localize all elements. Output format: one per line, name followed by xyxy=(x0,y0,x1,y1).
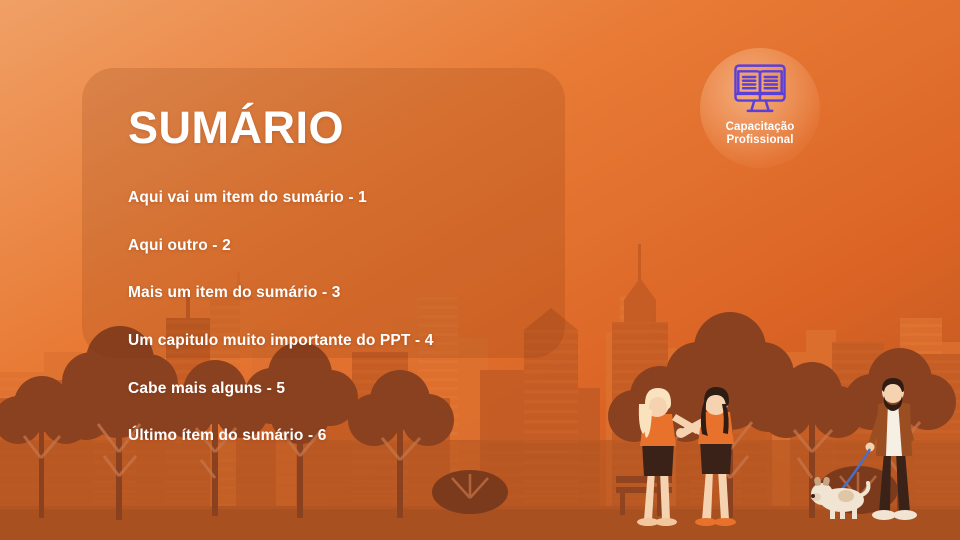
page-title: SUMÁRIO xyxy=(128,104,648,151)
logo-text-line2: Profissional xyxy=(726,134,793,146)
table-of-contents-list: Aqui vai um item do sumário - 1 Aqui out… xyxy=(128,189,648,446)
toc-item-5[interactable]: Cabe mais alguns - 5 xyxy=(128,380,648,399)
logo-badge: Capacitação Profissional xyxy=(700,48,820,168)
toc-item-3[interactable]: Mais um item do sumário - 3 xyxy=(128,284,648,303)
logo-text-line1: Capacitação xyxy=(726,121,795,133)
toc-item-4[interactable]: Um capitulo muito importante do PPT - 4 xyxy=(128,332,648,351)
monitor-book-icon xyxy=(727,60,793,118)
toc-item-1[interactable]: Aqui vai um item do sumário - 1 xyxy=(128,189,648,208)
presentation-slide: SUMÁRIO Aqui vai um item do sumário - 1 … xyxy=(0,0,960,540)
toc-item-6[interactable]: Último ítem do sumário - 6 xyxy=(128,427,648,446)
logo-text: Capacitação Profissional xyxy=(726,121,795,147)
slide-content: SUMÁRIO Aqui vai um item do sumário - 1 … xyxy=(128,104,648,446)
toc-item-2[interactable]: Aqui outro - 2 xyxy=(128,237,648,256)
